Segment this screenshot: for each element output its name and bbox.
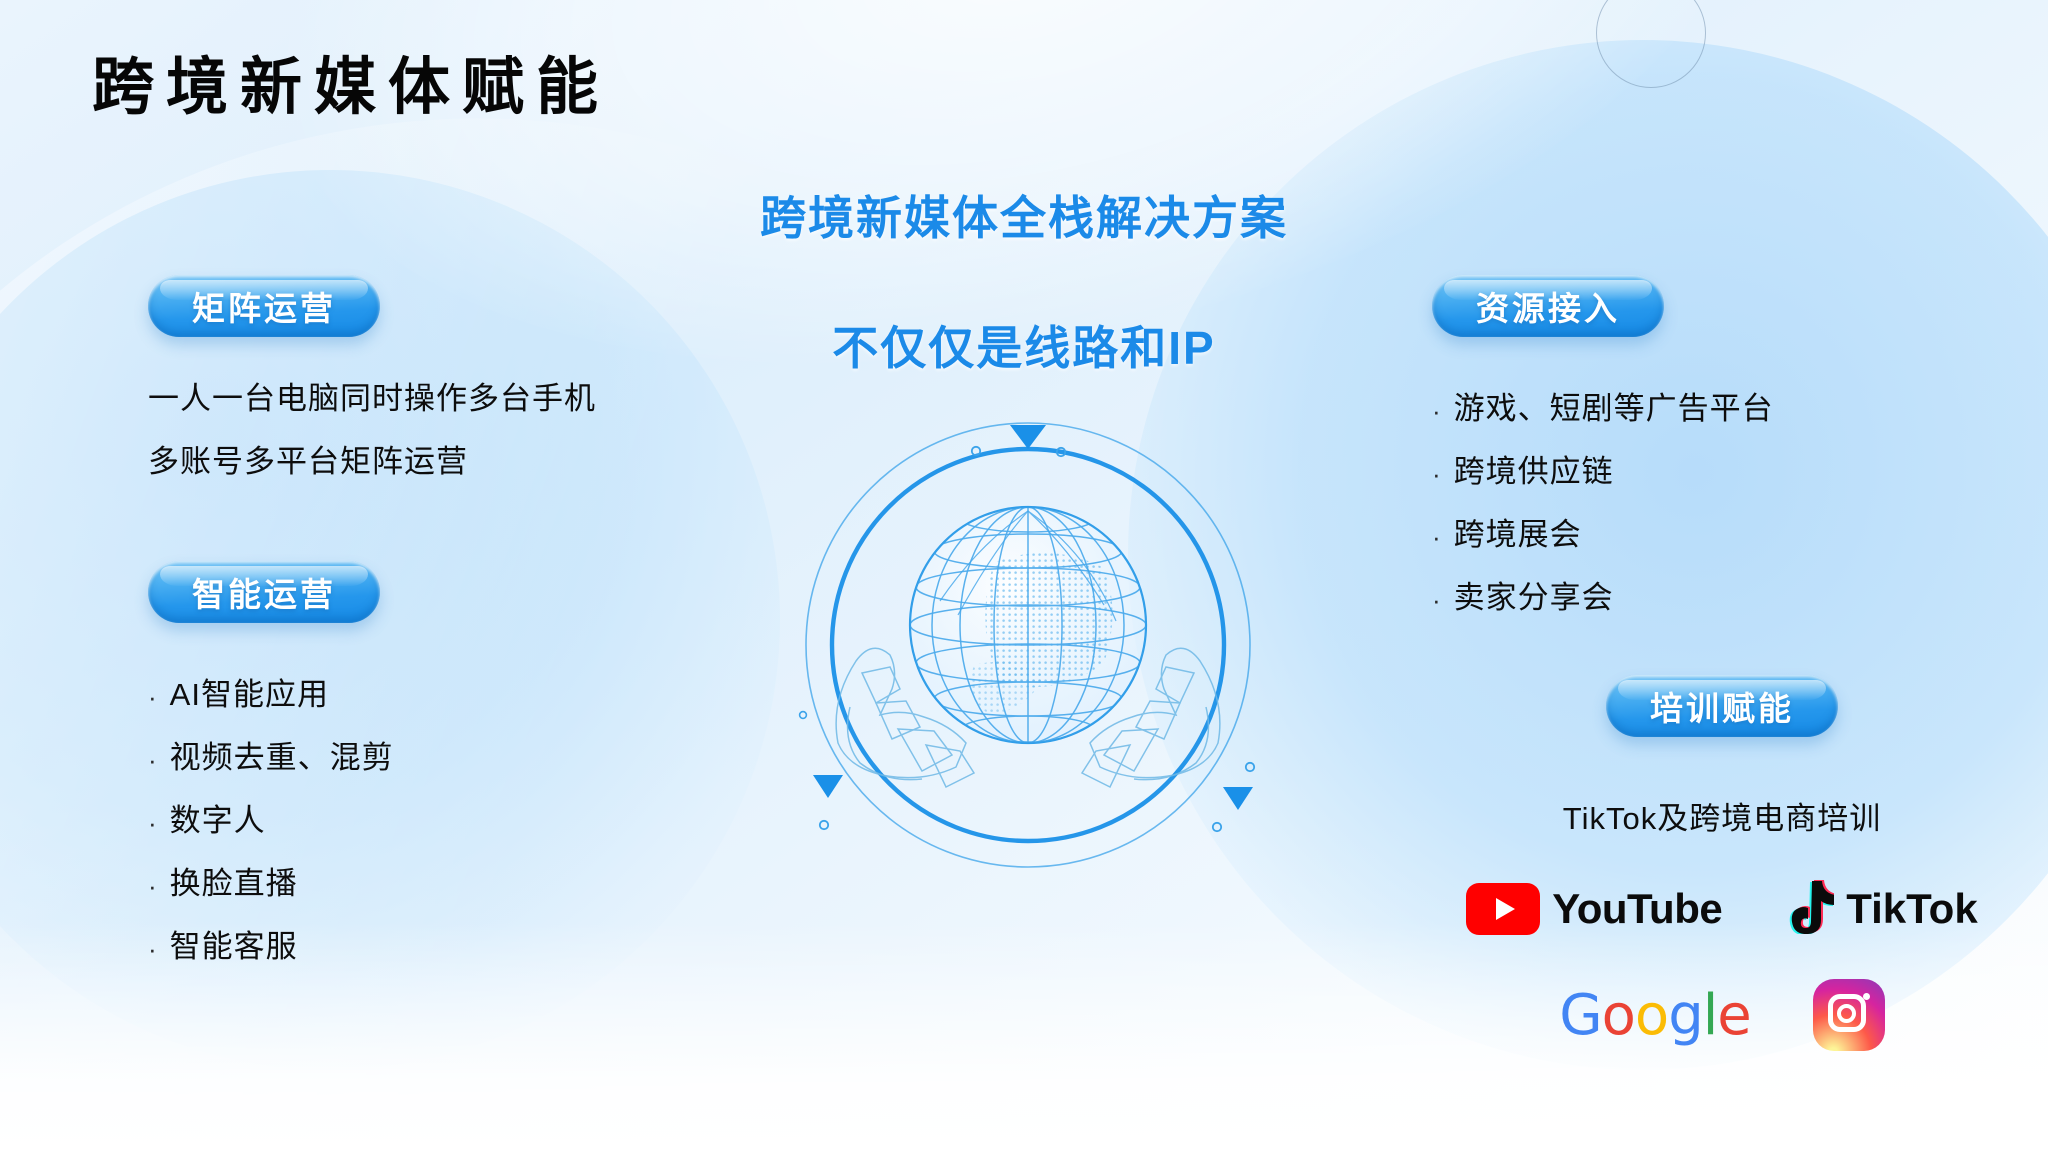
bullet-dot-icon: · — [148, 936, 158, 962]
youtube-wordmark: YouTube — [1552, 885, 1722, 933]
google-letter-o1: o — [1602, 983, 1635, 1048]
list-item-label: AI智能应用 — [170, 677, 329, 712]
spacer — [148, 710, 768, 742]
instagram-logo — [1813, 979, 1885, 1051]
spacer — [148, 477, 768, 561]
list-item: ·AI智能应用 — [148, 679, 768, 710]
list-item-label: 智能客服 — [170, 929, 298, 964]
list-item-label: 数字人 — [170, 803, 266, 838]
list-item: ·数字人 — [148, 805, 768, 836]
spacer — [1432, 613, 2012, 675]
group-intelligent-operations: 智能运营 ·AI智能应用 ·视频去重、混剪 ·数字人 ·换脸直播 ·智能客服 — [148, 561, 768, 962]
center-heading-primary: 跨境新媒体全栈解决方案 — [760, 182, 1288, 248]
right-column: 资源接入 ·游戏、短剧等广告平台 ·跨境供应链 ·跨境展会 ·卖家分享会 培训赋… — [1432, 275, 2012, 1051]
list-item: ·跨境供应链 — [1432, 456, 2012, 487]
group-training-empowerment: 培训赋能 TikTok及跨境电商培训 YouTube — [1432, 675, 2012, 1051]
spacer — [148, 337, 768, 383]
google-letter-l: l — [1703, 983, 1718, 1048]
slide-canvas: 跨境新媒体赋能 跨境新媒体全栈解决方案 不仅仅是线路和IP — [0, 0, 2048, 1152]
partner-logos: YouTube TikTok Goo — [1432, 878, 2012, 1051]
spacer — [1432, 424, 2012, 456]
tiktok-logo: TikTok — [1784, 878, 1977, 939]
spacer — [148, 414, 768, 446]
list-item-label: 跨境展会 — [1454, 517, 1582, 552]
bullet-dot-icon: · — [148, 684, 158, 710]
google-logo: Google — [1559, 983, 1751, 1048]
logo-row-2: Google — [1432, 979, 2012, 1051]
training-description: TikTok及跨境电商培训 — [1432, 793, 2012, 838]
badge-resource-access[interactable]: 资源接入 — [1432, 275, 1664, 337]
bullet-dot-icon: · — [1432, 587, 1442, 613]
list-item-label: 卖家分享会 — [1454, 580, 1614, 615]
badge-row: 培训赋能 — [1432, 675, 2012, 737]
bullet-dot-icon: · — [1432, 461, 1442, 487]
badge-training-empowerment[interactable]: 培训赋能 — [1606, 675, 1838, 737]
logo-row-1: YouTube TikTok — [1432, 878, 2012, 939]
bullet-dot-icon: · — [148, 747, 158, 773]
decorative-ring-icon — [1596, 0, 1706, 88]
google-letter-g1: G — [1559, 983, 1601, 1048]
spacer — [1432, 337, 2012, 393]
badge-intelligent-operations[interactable]: 智能运营 — [148, 561, 380, 623]
center-heading-secondary: 不仅仅是线路和IP — [832, 312, 1215, 378]
spacer — [148, 836, 768, 868]
tiktok-note-icon — [1784, 878, 1834, 939]
spacer — [1432, 550, 2012, 582]
badge-matrix-operations[interactable]: 矩阵运营 — [148, 275, 380, 337]
list-item: ·智能客服 — [148, 931, 768, 962]
google-letter-e: e — [1717, 983, 1750, 1048]
left-column: 矩阵运营 一人一台电脑同时操作多台手机 多账号多平台矩阵运营 智能运营 ·AI智… — [148, 275, 768, 962]
list-item: ·换脸直播 — [148, 868, 768, 899]
bullet-dot-icon: · — [1432, 524, 1442, 550]
youtube-play-icon — [1466, 883, 1540, 935]
spacer — [148, 899, 768, 931]
page-title: 跨境新媒体赋能 — [92, 36, 610, 126]
spacer — [148, 623, 768, 679]
list-item: ·卖家分享会 — [1432, 582, 2012, 613]
list-item-label: 跨境供应链 — [1454, 454, 1614, 489]
globe-in-hands-illustration — [798, 415, 1258, 875]
list-item: 一人一台电脑同时操作多台手机 — [148, 383, 768, 414]
tiktok-wordmark: TikTok — [1846, 885, 1977, 933]
google-letter-g2: g — [1668, 983, 1703, 1048]
instagram-lens-dot-icon — [1863, 993, 1870, 1000]
list-item: ·视频去重、混剪 — [148, 742, 768, 773]
list-item-label: 视频去重、混剪 — [170, 740, 394, 775]
list-item: ·跨境展会 — [1432, 519, 2012, 550]
bullet-dot-icon: · — [1432, 398, 1442, 424]
bullet-dot-icon: · — [148, 873, 158, 899]
spacer — [148, 773, 768, 805]
list-item: ·游戏、短剧等广告平台 — [1432, 393, 2012, 424]
google-letter-o2: o — [1635, 983, 1668, 1048]
youtube-logo: YouTube — [1466, 883, 1722, 935]
list-item-label: 游戏、短剧等广告平台 — [1454, 391, 1774, 426]
spacer — [1432, 487, 2012, 519]
list-item: 多账号多平台矩阵运营 — [148, 446, 768, 477]
spacer — [1432, 737, 2012, 793]
group-matrix-operations: 矩阵运营 一人一台电脑同时操作多台手机 多账号多平台矩阵运营 — [148, 275, 768, 477]
list-item-label: 换脸直播 — [170, 866, 298, 901]
group-resource-access: 资源接入 ·游戏、短剧等广告平台 ·跨境供应链 ·跨境展会 ·卖家分享会 — [1432, 275, 2012, 613]
bullet-dot-icon: · — [148, 810, 158, 836]
